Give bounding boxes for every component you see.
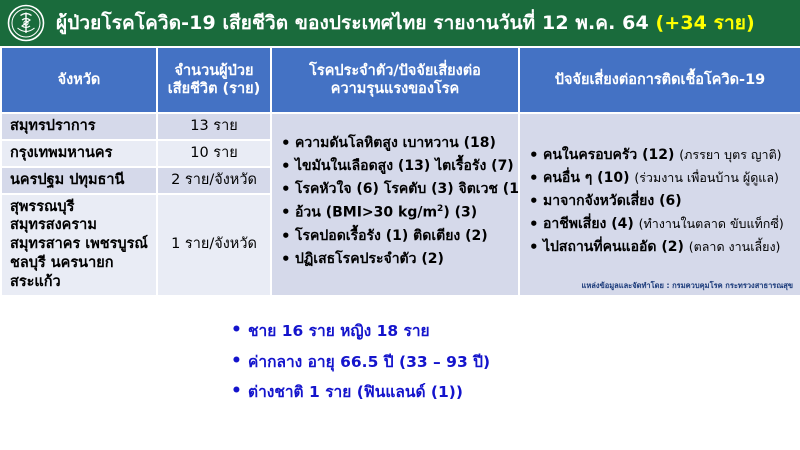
deaths-table-container: จังหวัด จำนวนผู้ป่วย เสียชีวิต (ราย) โรค… [0,46,800,292]
list-item: ความดันโลหิตสูง เบาหวาน (18) [280,135,510,153]
risk-factor-main: คนในครอบครัว (12) [543,147,674,163]
ministry-of-public-health-emblem-icon [6,3,46,43]
infographic-page: ผู้ป่วยโรคโควิด-19 เสียชีวิต ของประเทศไท… [0,0,800,450]
list-item: มาจากจังหวัดเสี่ยง (6) [528,193,792,211]
header-bar: ผู้ป่วยโรคโควิด-19 เสียชีวิต ของประเทศไท… [0,0,800,46]
new-deaths-badge: (+34 ราย) [656,12,755,34]
list-item: ค่ากลาง อายุ 66.5 ปี (33 – 93 ปี) [231,353,661,372]
summary-list: ชาย 16 ราย หญิง 18 ราย ค่ากลาง อายุ 66.5… [231,322,661,402]
page-title-main: ผู้ป่วยโรคโควิด-19 เสียชีวิต ของประเทศไท… [56,12,656,34]
risk-factor-main: คนอื่น ๆ (10) [543,170,629,186]
risk-factor-detail: (ภรรยา บุตร ญาติ) [679,147,781,162]
province-name: สมุทรสาคร เพชรบูรณ์ [10,235,148,254]
list-item: อาชีพเสี่ยง (4) (ทำงานในตลาด ขับแท็กซี่) [528,216,792,234]
death-count-cell: 2 ราย/จังหวัด [157,167,271,194]
list-item: โรคหัวใจ (6) โรคตับ (3) จิตเวช (1) [280,181,510,199]
risk-factors-cell: คนในครอบครัว (12) (ภรรยา บุตร ญาติ) คนอื… [519,113,800,296]
death-count-cell: 13 ราย [157,113,271,140]
province-cell: กรุงเทพมหานคร [1,140,157,167]
column-header-comorbidities: โรคประจำตัว/ปัจจัยเสี่ยงต่อ ความรุนแรงขอ… [271,47,519,113]
column-header-comorbidities-line2: ความรุนแรงของโรค [331,81,459,97]
province-cell: สมุทรปราการ [1,113,157,140]
risk-factor-detail: (ร่วมงาน เพื่อนบ้าน ผู้ดูแล) [634,170,779,185]
list-item: ชาย 16 ราย หญิง 18 ราย [231,322,661,341]
province-name: กรุงเทพมหานคร [10,144,148,163]
list-item: โรคปอดเรื้อรัง (1) ติดเตียง (2) [280,228,510,246]
column-header-province: จังหวัด [1,47,157,113]
page-title: ผู้ป่วยโรคโควิด-19 เสียชีวิต ของประเทศไท… [56,0,755,46]
source-attribution: แหล่งข้อมูลและจัดทำโดย : กรมควบคุมโรค กร… [582,281,793,291]
table-row: สมุทรปราการ 13 ราย ความดันโลหิตสูง เบาหว… [1,113,800,140]
column-header-death-count-line1: จำนวนผู้ป่วย [175,63,254,79]
column-header-risk-factors: ปัจจัยเสี่ยงต่อการติดเชื้อโควิด-19 [519,47,800,113]
list-item: คนในครอบครัว (12) (ภรรยา บุตร ญาติ) [528,147,792,165]
summary-section: ชาย 16 ราย หญิง 18 ราย ค่ากลาง อายุ 66.5… [231,322,661,414]
obesity-text-pre: อ้วน (BMI>30 kg/m [295,205,437,221]
obesity-text-post: ) (3) [443,205,477,221]
list-item: ปฏิเสธโรคประจำตัว (2) [280,251,510,269]
province-name: สุพรรณบุรี สมุทรสงคราม [10,198,148,236]
list-item: อ้วน (BMI>30 kg/m2) (3) [280,204,510,222]
comorbidities-cell: ความดันโลหิตสูง เบาหวาน (18) ไขมันในเลือ… [271,113,519,296]
deaths-by-province-table: จังหวัด จำนวนผู้ป่วย เสียชีวิต (ราย) โรค… [0,46,800,297]
table-header-row: จังหวัด จำนวนผู้ป่วย เสียชีวิต (ราย) โรค… [1,47,800,113]
list-item: ไขมันในเลือดสูง (13) ไตเรื้อรัง (7) [280,158,510,176]
risk-factors-list: คนในครอบครัว (12) (ภรรยา บุตร ญาติ) คนอื… [528,147,792,257]
province-name: ชลบุรี นครนายก สระแก้ว [10,254,148,292]
column-header-death-count: จำนวนผู้ป่วย เสียชีวิต (ราย) [157,47,271,113]
risk-factor-main: อาชีพเสี่ยง (4) [543,216,634,232]
risk-factor-main: ไปสถานที่คนแออัด (2) [543,239,684,255]
province-cell: นครปฐม ปทุมธานี [1,167,157,194]
province-cell: สุพรรณบุรี สมุทรสงคราม สมุทรสาคร เพชรบูร… [1,194,157,296]
death-count-cell: 1 ราย/จังหวัด [157,194,271,296]
comorbidities-list: ความดันโลหิตสูง เบาหวาน (18) ไขมันในเลือ… [280,135,510,268]
column-header-comorbidities-line1: โรคประจำตัว/ปัจจัยเสี่ยงต่อ [309,63,481,79]
risk-factor-detail: (ตลาด งานเลี้ยง) [689,239,781,254]
list-item: ต่างชาติ 1 ราย (ฟินแลนด์ (1)) [231,383,661,402]
list-item: ไปสถานที่คนแออัด (2) (ตลาด งานเลี้ยง) [528,239,792,257]
risk-factor-main: มาจากจังหวัดเสี่ยง (6) [543,193,682,209]
death-count-cell: 10 ราย [157,140,271,167]
province-name: สมุทรปราการ [10,117,148,136]
column-header-death-count-line2: เสียชีวิต (ราย) [168,81,260,97]
province-name: นครปฐม ปทุมธานี [10,171,148,190]
list-item: คนอื่น ๆ (10) (ร่วมงาน เพื่อนบ้าน ผู้ดูแ… [528,170,792,188]
risk-factor-detail: (ทำงานในตลาด ขับแท็กซี่) [639,216,784,231]
